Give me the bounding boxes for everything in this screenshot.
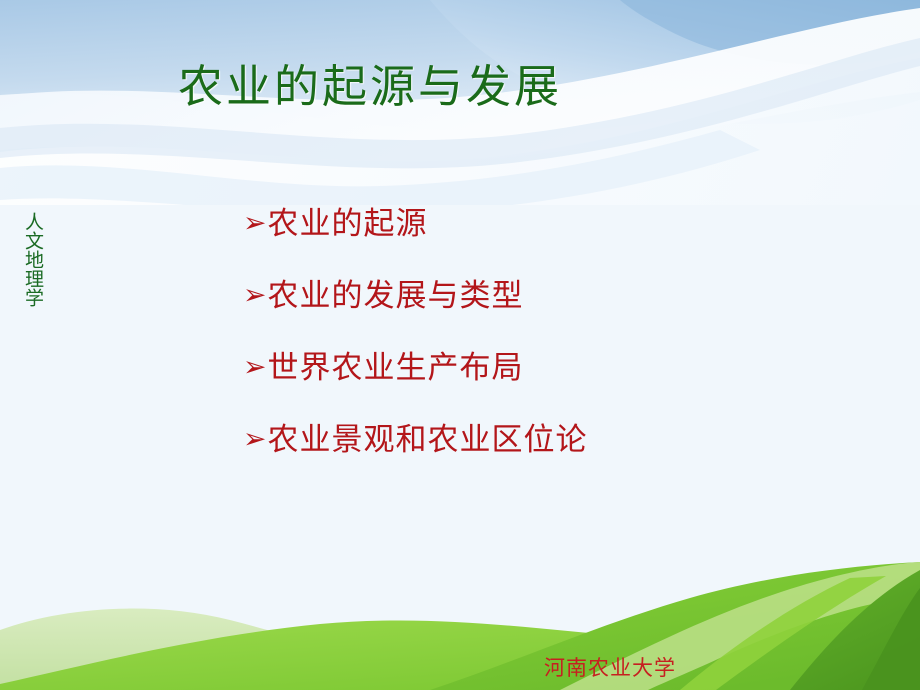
list-item[interactable]: ➢ 农业的起源 [243,208,763,280]
arrow-bullet-icon: ➢ [243,425,266,453]
list-item[interactable]: ➢ 农业的发展与类型 [243,280,763,352]
agenda-list: ➢ 农业的起源 ➢ 农业的发展与类型 ➢ 世界农业生产布局 ➢ 农业景观和农业区… [243,208,763,496]
list-item[interactable]: ➢ 世界农业生产布局 [243,352,763,424]
list-item-label: 农业的发展与类型 [267,280,763,313]
course-vertical-label: 人文地理学 [18,212,44,307]
arrow-bullet-icon: ➢ [243,281,266,309]
wave-ribbon-left [0,130,760,214]
institution-footer: 河南农业大学 [0,652,920,682]
list-item-label: 农业景观和农业区位论 [267,424,763,457]
list-item-label: 农业的起源 [267,208,763,241]
page-title: 农业的起源与发展 [0,62,920,112]
arrow-bullet-icon: ➢ [243,353,266,381]
presentation-slide: 农业的起源与发展 人文地理学 ➢ 农业的起源 ➢ 农业的发展与类型 ➢ 世界农业… [0,0,920,690]
arrow-bullet-icon: ➢ [243,209,266,237]
list-item[interactable]: ➢ 农业景观和农业区位论 [243,424,763,496]
list-item-label: 世界农业生产布局 [267,352,763,385]
sky-accent-top-right [620,0,920,65]
